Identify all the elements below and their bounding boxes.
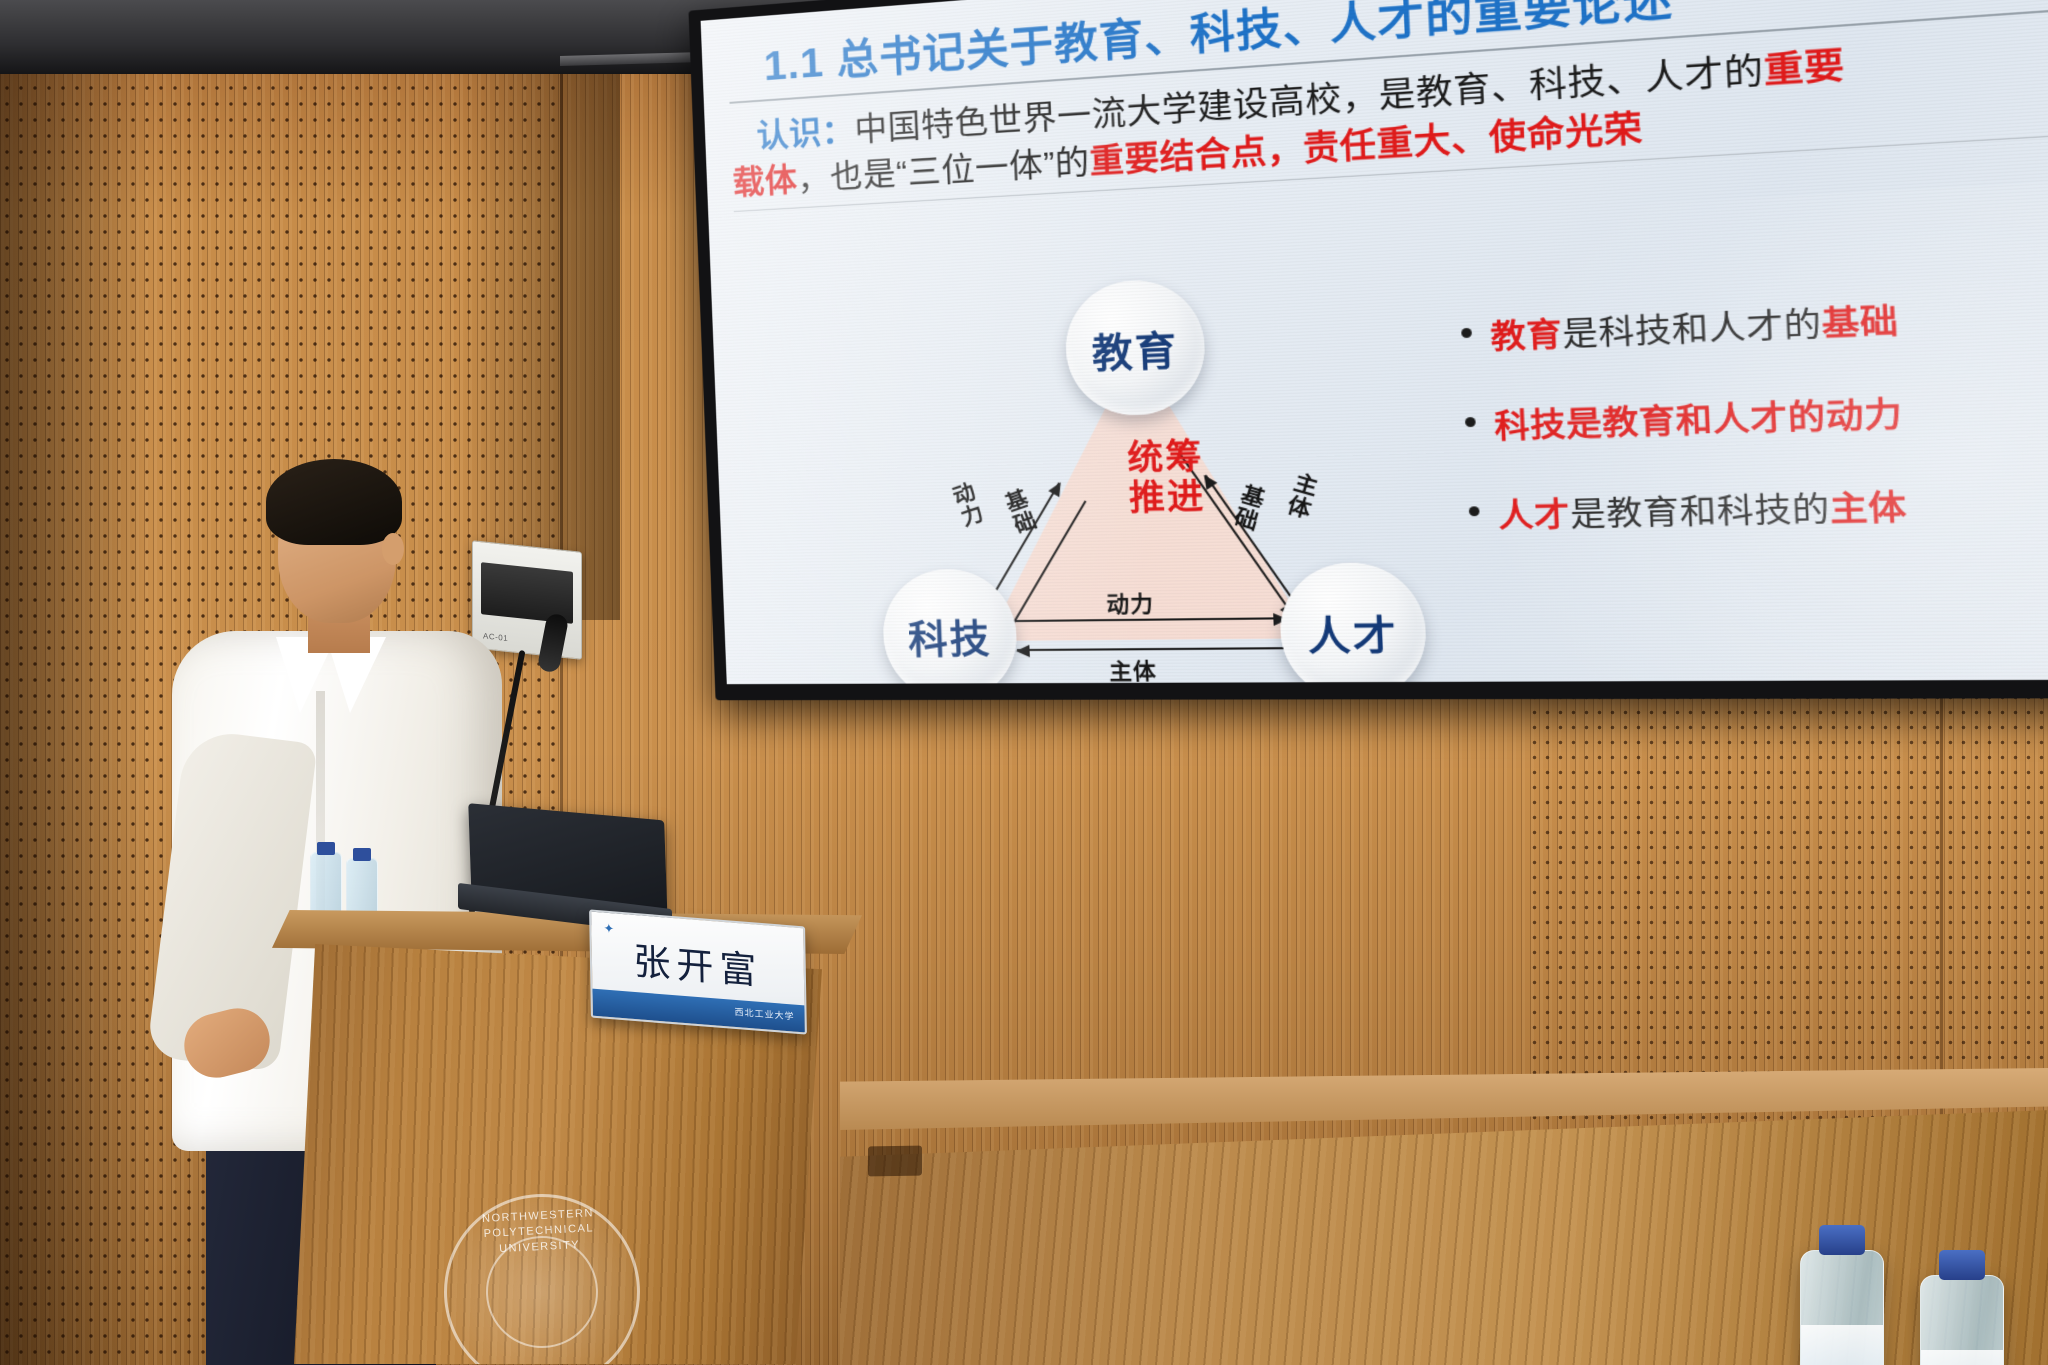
edge-label-right-outer: 主体 [1278,468,1324,522]
bullet-1-head: 教育 [1490,317,1563,356]
edge-label-left-outer: 动力 [943,479,988,532]
edge-label-left-inner: 基础 [996,485,1042,538]
lead-label: 认识： [756,112,855,155]
lectern: NORTHWESTERN POLYTECHNICAL UNIVERSITY ✦ … [272,910,862,1365]
slide-content: 1.1 总书记关于教育、科技、人才的重要论述 认识：中国特色世界一流大学建设高校… [701,0,2048,684]
node-education: 教育 [1063,277,1207,417]
bullet-dot-icon [1465,417,1476,427]
bullet-3-middle: 是教育和科技的 [1569,491,1830,533]
university-emblem: NORTHWESTERN POLYTECHNICAL UNIVERSITY [439,1189,645,1365]
projection-screen: 1.1 总书记关于教育、科技、人才的重要论述 认识：中国特色世界一流大学建设高校… [688,0,2048,700]
diagram-center-label: 统筹 推进 [1100,435,1234,518]
bottle-cap [317,842,335,855]
node-talent: 人才 [1278,562,1429,685]
speaker-hair [266,459,402,545]
bullet-dot-icon [1461,328,1472,338]
presentation-photo: AC-01 1.1 总书记关于教育、科技、人才的重要论述 认识：中国特色世界一流… [0,0,2048,1365]
bullet-3-tail: 主体 [1829,489,1908,528]
wall-shadow-left [0,0,150,1365]
bullet-2-text: 科技是教育和人才的动力 [1493,386,1903,447]
node-education-label: 教育 [1091,317,1180,378]
bullet-list: 教育是科技和人才的基础 科技是教育和人才的动力 人才是教育和科技的主体 [1460,286,2048,578]
bullet-1-tail: 基础 [1821,303,1899,343]
triangle-diagram: 教育 科技 人才 动力 基础 主体 基础 动 [862,267,1443,684]
bottle-cap [353,848,371,861]
edge-label-bottom-top: 动力 [1106,587,1155,619]
nameplate-name: 张开富 [591,928,804,999]
bullet-1-middle: 是科技和人才的 [1561,306,1822,353]
center-label-line2: 推进 [1101,475,1233,518]
lead-line2-highlight-head: 载体 [732,161,798,201]
bullet-1-text: 教育是科技和人才的基础 [1489,292,1899,357]
nameplate-band-text: 西北工业大学 [735,1005,795,1023]
screen-bezel: 1.1 总书记关于教育、科技、人才的重要论述 认识：中国特色世界一流大学建设高校… [688,0,2048,700]
bottle-label [1801,1325,1883,1365]
table-cable-notch [868,1146,922,1177]
bullet-dot-icon [1469,506,1480,516]
water-bottle-foreground-2 [1920,1275,2004,1365]
edge-label-bottom-bottom: 主体 [1109,654,1158,684]
slide-body: 教育 科技 人才 动力 基础 主体 基础 动 [711,219,2048,685]
emblem-text: NORTHWESTERN POLYTECHNICAL UNIVERSITY [443,1204,635,1260]
node-talent-label: 人才 [1306,602,1399,662]
node-technology-label: 科技 [907,606,992,663]
screen-surface: 1.1 总书记关于教育、科技、人才的重要论述 认识：中国特色世界一流大学建设高校… [701,0,2048,684]
speaker-ear [382,533,404,565]
water-bottle-foreground-1 [1800,1250,1884,1365]
bullet-item-3: 人才是教育和科技的主体 [1468,475,2048,537]
bullet-3-text: 人才是教育和科技的主体 [1497,479,1908,537]
bottle-label [1921,1350,2003,1365]
bottle-cap [1939,1250,1985,1280]
bullet-3-head: 人才 [1498,497,1571,535]
speaker-nameplate: ✦ 张开富 西北工业大学 [589,909,807,1034]
lead-line1-highlight: 重要 [1763,45,1846,91]
center-label-line1: 统筹 [1100,435,1232,479]
bottle-cap [1819,1225,1865,1255]
bullet-item-1: 教育是科技和人才的基础 [1460,286,2048,359]
bullet-item-2: 科技是教育和人才的动力 [1464,381,2048,448]
arrow-talent-to-tech [1017,647,1288,651]
